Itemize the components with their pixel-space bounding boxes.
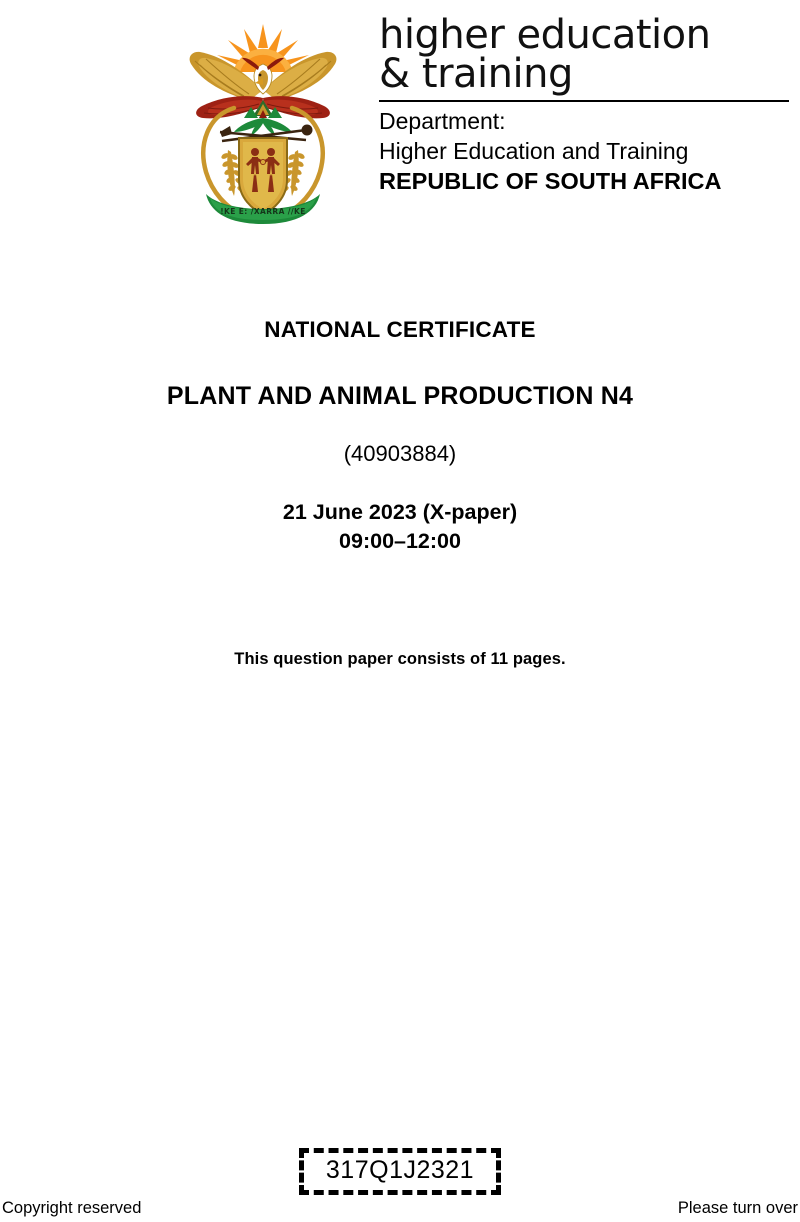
footer-copyright: Copyright reserved <box>2 1199 141 1218</box>
subject-title: PLANT AND ANIMAL PRODUCTION N4 <box>0 381 800 411</box>
page-count-note: This question paper consists of 11 pages… <box>0 650 800 669</box>
wordmark-line-2: & training <box>379 55 796 94</box>
exam-title-block: NATIONAL CERTIFICATE PLANT AND ANIMAL PR… <box>0 316 800 556</box>
department-country: REPUBLIC OF SOUTH AFRICA <box>379 166 796 197</box>
page-footer: Copyright reserved Please turn over <box>0 1199 800 1218</box>
south-african-coat-of-arms-icon: !KE E: /XARRA //KE <box>176 12 351 230</box>
exam-time: 09:00–12:00 <box>0 527 800 556</box>
footer-turn-over: Please turn over <box>678 1199 798 1218</box>
department-identity-block: higher education & training Department: … <box>351 12 796 197</box>
wordmark-divider <box>379 100 789 102</box>
letterhead: !KE E: /XARRA //KE higher education & tr… <box>176 12 796 232</box>
department-name: Higher Education and Training <box>379 136 796 166</box>
emblem-motto-text: !KE E: /XARRA //KE <box>220 207 306 216</box>
exam-date: 21 June 2023 (X-paper) <box>0 498 800 527</box>
certificate-type: NATIONAL CERTIFICATE <box>0 316 800 343</box>
dhet-wordmark: higher education & training <box>379 16 796 94</box>
subject-code: (40903884) <box>0 441 800 467</box>
exam-code-box: 317Q1J2321 <box>299 1148 501 1195</box>
department-label: Department: <box>379 106 796 136</box>
exam-code-container: 317Q1J2321 <box>0 1148 800 1195</box>
